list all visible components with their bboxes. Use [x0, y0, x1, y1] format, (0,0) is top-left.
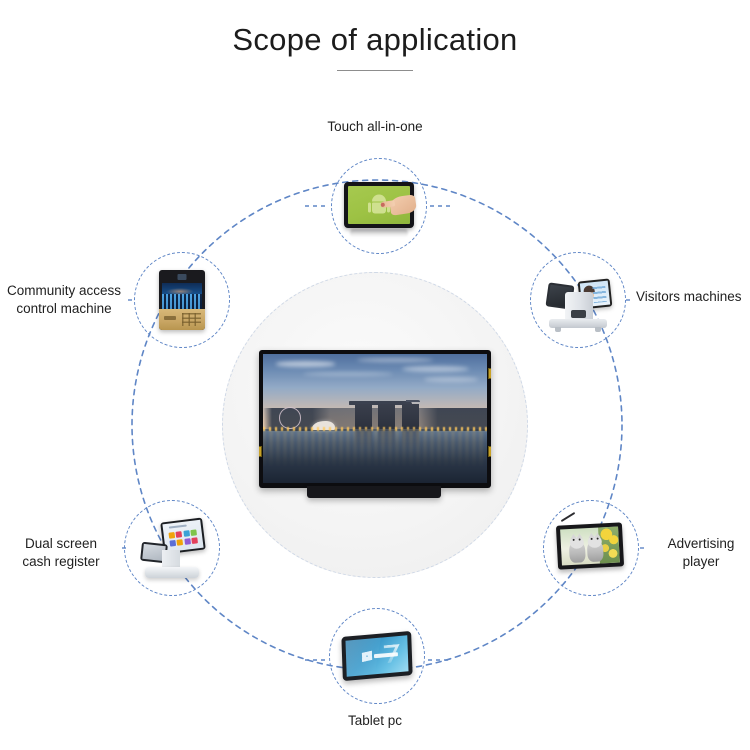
label-visitors-machines: Visitors machines: [636, 288, 750, 306]
lcd-screen-image: [263, 354, 487, 483]
title-underline-rule: [337, 70, 413, 71]
visitors-machine-icon: [541, 268, 615, 332]
node-advertising-player[interactable]: [543, 500, 639, 596]
label-touch-all-in-one: Touch all-in-one: [0, 118, 750, 136]
panel-connector-tab-left: [259, 446, 262, 457]
label-dual-screen-cash-register: Dual screen cash register: [2, 535, 120, 571]
community-access-control-machine-icon: [145, 268, 219, 332]
windows-tiles: [168, 529, 197, 546]
keypad: [159, 309, 205, 330]
panel-connector-tab-right-top: [488, 368, 491, 379]
page-title: Scope of application: [0, 22, 750, 58]
node-tablet-pc[interactable]: [329, 608, 425, 704]
hotel-tower-3: [402, 404, 419, 430]
node-dual-screen-cash-register[interactable]: [124, 500, 220, 596]
label-advertising-player: Advertising player: [652, 535, 750, 571]
node-community-access-control-machine[interactable]: [134, 252, 230, 348]
title-block: Scope of application: [0, 22, 750, 71]
hotel-tower-2: [378, 404, 395, 430]
panel-connector-tab-right-bottom: [488, 446, 491, 457]
lcd-bezel: [259, 350, 491, 488]
ferris-wheel: [279, 407, 301, 428]
card-reader-icon: [571, 310, 586, 318]
water-reflection: [263, 429, 487, 468]
tablet-pc-icon: [340, 624, 414, 688]
touch-all-in-one-icon: [342, 174, 416, 238]
node-visitors-machines[interactable]: [530, 252, 626, 348]
label-community-access-control-machine: Community access control machine: [0, 282, 128, 318]
label-tablet-pc: Tablet pc: [0, 712, 750, 730]
kitten-graphic-right: [587, 539, 604, 562]
node-touch-all-in-one[interactable]: [331, 158, 427, 254]
camera-icon: [178, 274, 187, 280]
hotel-tower-1: [355, 404, 372, 430]
scope-of-application-diagram: Scope of application: [0, 0, 750, 750]
dual-screen-cash-register-icon: [135, 516, 209, 580]
lcd-display-panel: [259, 350, 491, 500]
kitten-graphic-left: [569, 540, 586, 563]
sky-park-tip: [406, 400, 419, 403]
panel-base-strip: [307, 486, 441, 498]
advertising-player-icon: [554, 516, 628, 580]
